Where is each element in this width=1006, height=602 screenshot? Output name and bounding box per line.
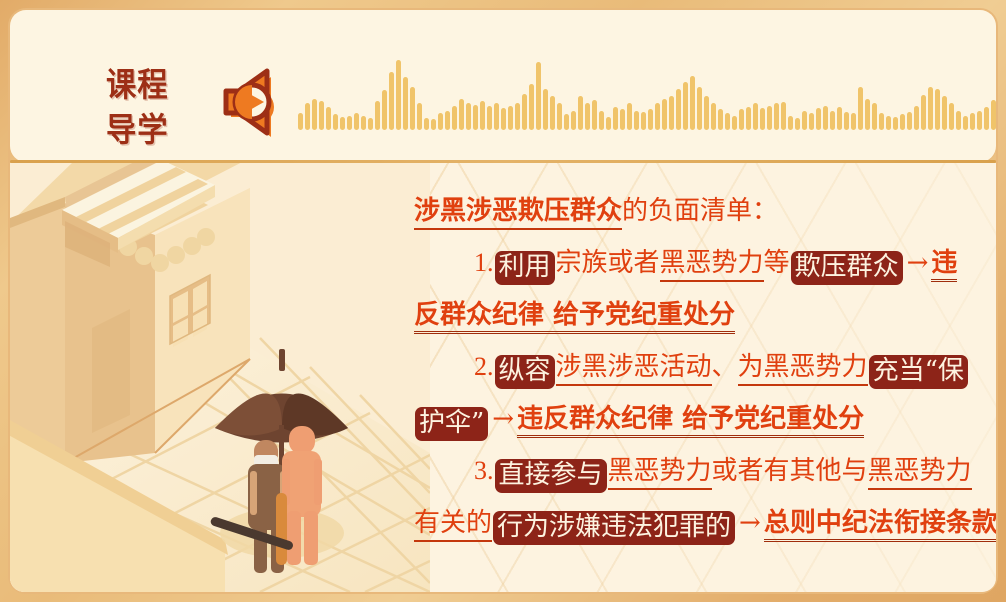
waveform-bar	[410, 87, 415, 130]
list-heading: 涉黑涉恶欺压群众的负面清单：	[414, 185, 980, 237]
waveform-bar	[564, 114, 569, 130]
waveform-bar	[431, 119, 436, 130]
item-3-number: 3.	[474, 456, 494, 485]
waveform-bar	[858, 87, 863, 130]
isometric-scene-illustration	[10, 163, 430, 592]
waveform-bar	[550, 96, 555, 130]
waveform-bar	[746, 107, 751, 130]
waveform-bar	[725, 113, 730, 130]
waveform-bar	[361, 116, 366, 130]
waveform-bar	[354, 113, 359, 130]
waveform-bar	[711, 103, 716, 130]
waveform-bar	[340, 117, 345, 130]
waveform-bar	[627, 103, 632, 130]
waveform-bar	[781, 102, 786, 130]
waveform-bar	[459, 99, 464, 130]
content-area: 涉黑涉恶欺压群众的负面清单： 1.利用宗族或者黑恶势力等欺压群众→违 反群众纪律…	[10, 163, 996, 592]
waveform-bar	[347, 116, 352, 130]
waveform-bar	[837, 107, 842, 130]
item-3-underline-3: 有关的	[414, 508, 492, 542]
waveform-bar	[543, 89, 548, 130]
waveform-bar	[571, 111, 576, 130]
waveform-bar	[515, 103, 520, 130]
course-guide-logo: 课程 导学	[106, 62, 201, 154]
waveform-bar	[585, 103, 590, 130]
waveform-bar	[865, 99, 870, 130]
item-2-chip-1: 纵容	[495, 355, 555, 389]
heading-highlight: 涉黑涉恶欺压群众	[414, 196, 622, 230]
waveform-bar	[739, 109, 744, 130]
waveform-bar	[879, 113, 884, 130]
waveform-bar	[312, 99, 317, 130]
slide-root: 课程 导学	[0, 0, 1006, 602]
item-3-underline-1: 黑恶势力	[608, 456, 712, 490]
waveform-bar	[851, 113, 856, 130]
item-1-number: 1.	[474, 248, 494, 277]
arrow-icon-2: →	[489, 404, 517, 434]
item-2-number: 2.	[474, 352, 494, 381]
waveform-bar	[452, 106, 457, 130]
list-item-1-line-1: 1.利用宗族或者黑恶势力等欺压群众→违	[414, 237, 980, 289]
waveform-bar	[599, 111, 604, 130]
waveform-bar	[298, 113, 303, 130]
item-2-result: 违反群众纪律 给予党纪重处分	[517, 404, 864, 438]
waveform-bar	[830, 111, 835, 130]
waveform-bar	[368, 118, 373, 130]
waveform-bar	[522, 94, 527, 130]
waveform-bar	[893, 117, 898, 130]
waveform-bar	[578, 96, 583, 130]
audio-waveform	[298, 58, 938, 130]
waveform-bar	[704, 96, 709, 130]
waveform-bar	[438, 113, 443, 130]
waveform-bar	[592, 100, 597, 130]
list-item-2-line-2: 护伞”→违反群众纪律 给予党纪重处分	[414, 393, 980, 445]
waveform-bar	[676, 89, 681, 130]
waveform-bar	[753, 103, 758, 130]
item-3-chip-2: 行为涉嫌违法犯罪的	[493, 511, 735, 545]
waveform-bar	[935, 89, 940, 130]
waveform-bar	[326, 107, 331, 130]
item-1-text-2: 等	[764, 248, 790, 278]
waveform-bar	[557, 103, 562, 130]
waveform-bar	[634, 111, 639, 130]
waveform-bar	[732, 116, 737, 130]
waveform-bar	[767, 106, 772, 130]
waveform-bar	[928, 87, 933, 130]
waveform-bar	[508, 106, 513, 130]
list-item-2-line-1: 2.纵容涉黑涉恶活动、为黑恶势力充当“保	[414, 341, 980, 393]
waveform-bar	[501, 108, 506, 130]
item-2-chip-2: 充当“保	[869, 355, 968, 389]
waveform-bar	[389, 72, 394, 130]
waveform-bar	[809, 113, 814, 130]
waveform-bar	[872, 103, 877, 130]
item-2-underline-2: 为黑恶势力	[738, 352, 868, 386]
waveform-bar	[319, 101, 324, 130]
waveform-bar	[697, 87, 702, 130]
waveform-bar	[494, 103, 499, 130]
waveform-bar	[886, 116, 891, 130]
item-1-chip-1: 利用	[495, 251, 555, 285]
waveform-bar	[396, 60, 401, 130]
waveform-bar	[802, 111, 807, 130]
waveform-bar	[690, 76, 695, 130]
waveform-bar	[333, 114, 338, 130]
waveform-bar	[424, 118, 429, 130]
waveform-bar	[900, 114, 905, 130]
arrow-icon-1: →	[904, 248, 932, 278]
waveform-bar	[683, 82, 688, 130]
logo-line-2: 导学	[106, 107, 193, 152]
logo-line-1: 课程	[106, 62, 193, 107]
item-2-chip-3: 护伞”	[415, 407, 488, 441]
waveform-bar	[487, 106, 492, 130]
waveform-bar	[648, 109, 653, 130]
waveform-bar	[606, 117, 611, 130]
waveform-bar	[788, 116, 793, 130]
negative-list-text: 涉黑涉恶欺压群众的负面清单： 1.利用宗族或者黑恶势力等欺压群众→违 反群众纪律…	[414, 185, 980, 575]
waveform-bar	[977, 111, 982, 130]
item-1-chip-2: 欺压群众	[791, 251, 903, 285]
megaphone-icon[interactable]	[222, 62, 292, 140]
waveform-bar	[466, 103, 471, 130]
waveform-bar	[942, 96, 947, 130]
waveform-bar	[823, 106, 828, 130]
waveform-bar	[816, 108, 821, 130]
waveform-bar	[375, 101, 380, 130]
waveform-bar	[382, 90, 387, 130]
list-item-1-line-2: 反群众纪律 给予党纪重处分	[414, 289, 980, 341]
waveform-bar	[970, 113, 975, 130]
waveform-bar	[613, 107, 618, 130]
waveform-bar	[956, 111, 961, 130]
waveform-bar	[445, 111, 450, 130]
waveform-bar	[641, 112, 646, 130]
item-3-text-1: 或者有其他与	[712, 456, 868, 486]
waveform-bar	[305, 103, 310, 130]
item-2-text-1: 、	[712, 352, 738, 382]
waveform-bar	[655, 103, 660, 130]
item-1-text-1: 宗族或者	[556, 248, 660, 278]
waveform-bar	[760, 108, 765, 130]
waveform-bar	[963, 116, 968, 130]
list-item-3-line-2: 有关的行为涉嫌违法犯罪的→总则中纪法衔接条款	[414, 497, 980, 549]
item-1-result-part-2: 反群众纪律 给予党纪重处分	[414, 300, 735, 334]
waveform-bar	[914, 106, 919, 130]
waveform-bar	[417, 103, 422, 130]
item-3-result: 总则中纪法衔接条款	[764, 508, 996, 542]
header-panel: 课程 导学	[10, 10, 996, 162]
waveform-bar	[844, 112, 849, 130]
waveform-bar	[907, 112, 912, 130]
item-3-underline-2: 黑恶势力	[868, 456, 972, 490]
waveform-bar	[991, 100, 996, 130]
waveform-bar	[529, 84, 534, 130]
waveform-bar	[921, 95, 926, 130]
waveform-bar	[774, 103, 779, 130]
item-2-underline-1: 涉黑涉恶活动	[556, 352, 712, 386]
waveform-bar	[949, 103, 954, 130]
waveform-bar	[795, 118, 800, 130]
waveform-bar	[718, 109, 723, 130]
waveform-bar	[473, 105, 478, 130]
item-3-chip-1: 直接参与	[495, 459, 607, 493]
arrow-icon-3: →	[736, 508, 764, 538]
waveform-bar	[669, 96, 674, 130]
waveform-bar	[620, 109, 625, 130]
waveform-bar	[984, 107, 989, 130]
list-item-3-line-1: 3.直接参与黑恶势力或者有其他与黑恶势力	[414, 445, 980, 497]
waveform-bar	[403, 77, 408, 130]
waveform-bar	[662, 99, 667, 130]
item-1-underline-1: 黑恶势力	[660, 248, 764, 282]
item-1-result-part-1: 违	[931, 248, 957, 282]
waveform-bar	[536, 62, 541, 130]
waveform-bar	[480, 101, 485, 130]
heading-rest: 的负面清单：	[622, 196, 778, 226]
